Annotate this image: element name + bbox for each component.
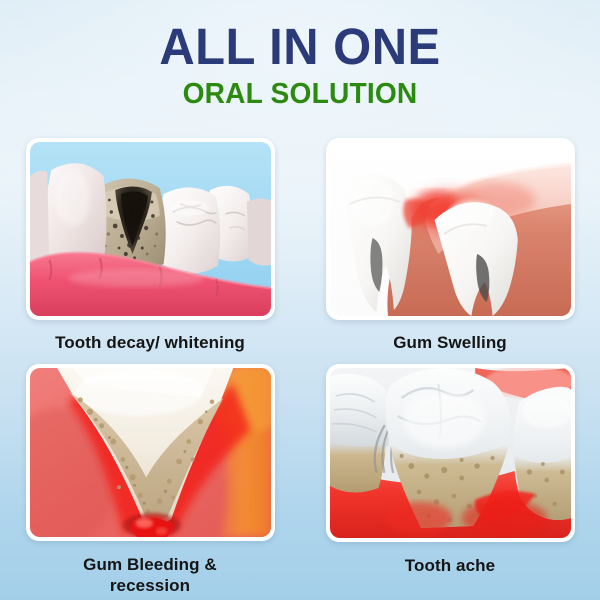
image-frame — [26, 138, 275, 320]
image-frame — [326, 138, 575, 320]
gum-swelling-illustration — [330, 142, 571, 316]
page-title: ALL IN ONE — [12, 0, 588, 73]
image-frame — [326, 364, 575, 542]
panel-caption: Gum Bleeding & recession — [83, 554, 217, 596]
panel-caption: Gum Swelling — [393, 332, 507, 353]
panel-caption: Tooth decay/ whitening — [55, 332, 245, 353]
panel-caption: Tooth ache — [405, 555, 495, 576]
header: ALL IN ONE ORAL SOLUTION — [0, 0, 600, 109]
condition-grid: Tooth decay/ whitening — [0, 138, 600, 596]
tooth-ache-illustration — [330, 368, 571, 538]
gum-bleeding-illustration — [30, 368, 271, 537]
image-frame — [26, 364, 275, 541]
panel-gum-swelling[interactable]: Gum Swelling — [300, 138, 600, 364]
tooth-decay-illustration — [30, 142, 271, 316]
poster-root: ALL IN ONE ORAL SOLUTION — [0, 0, 600, 600]
page-subtitle: ORAL SOLUTION — [9, 73, 591, 109]
panel-gum-bleeding[interactable]: Gum Bleeding & recession — [0, 364, 300, 596]
panel-tooth-decay[interactable]: Tooth decay/ whitening — [0, 138, 300, 364]
panel-tooth-ache[interactable]: Tooth ache — [300, 364, 600, 596]
